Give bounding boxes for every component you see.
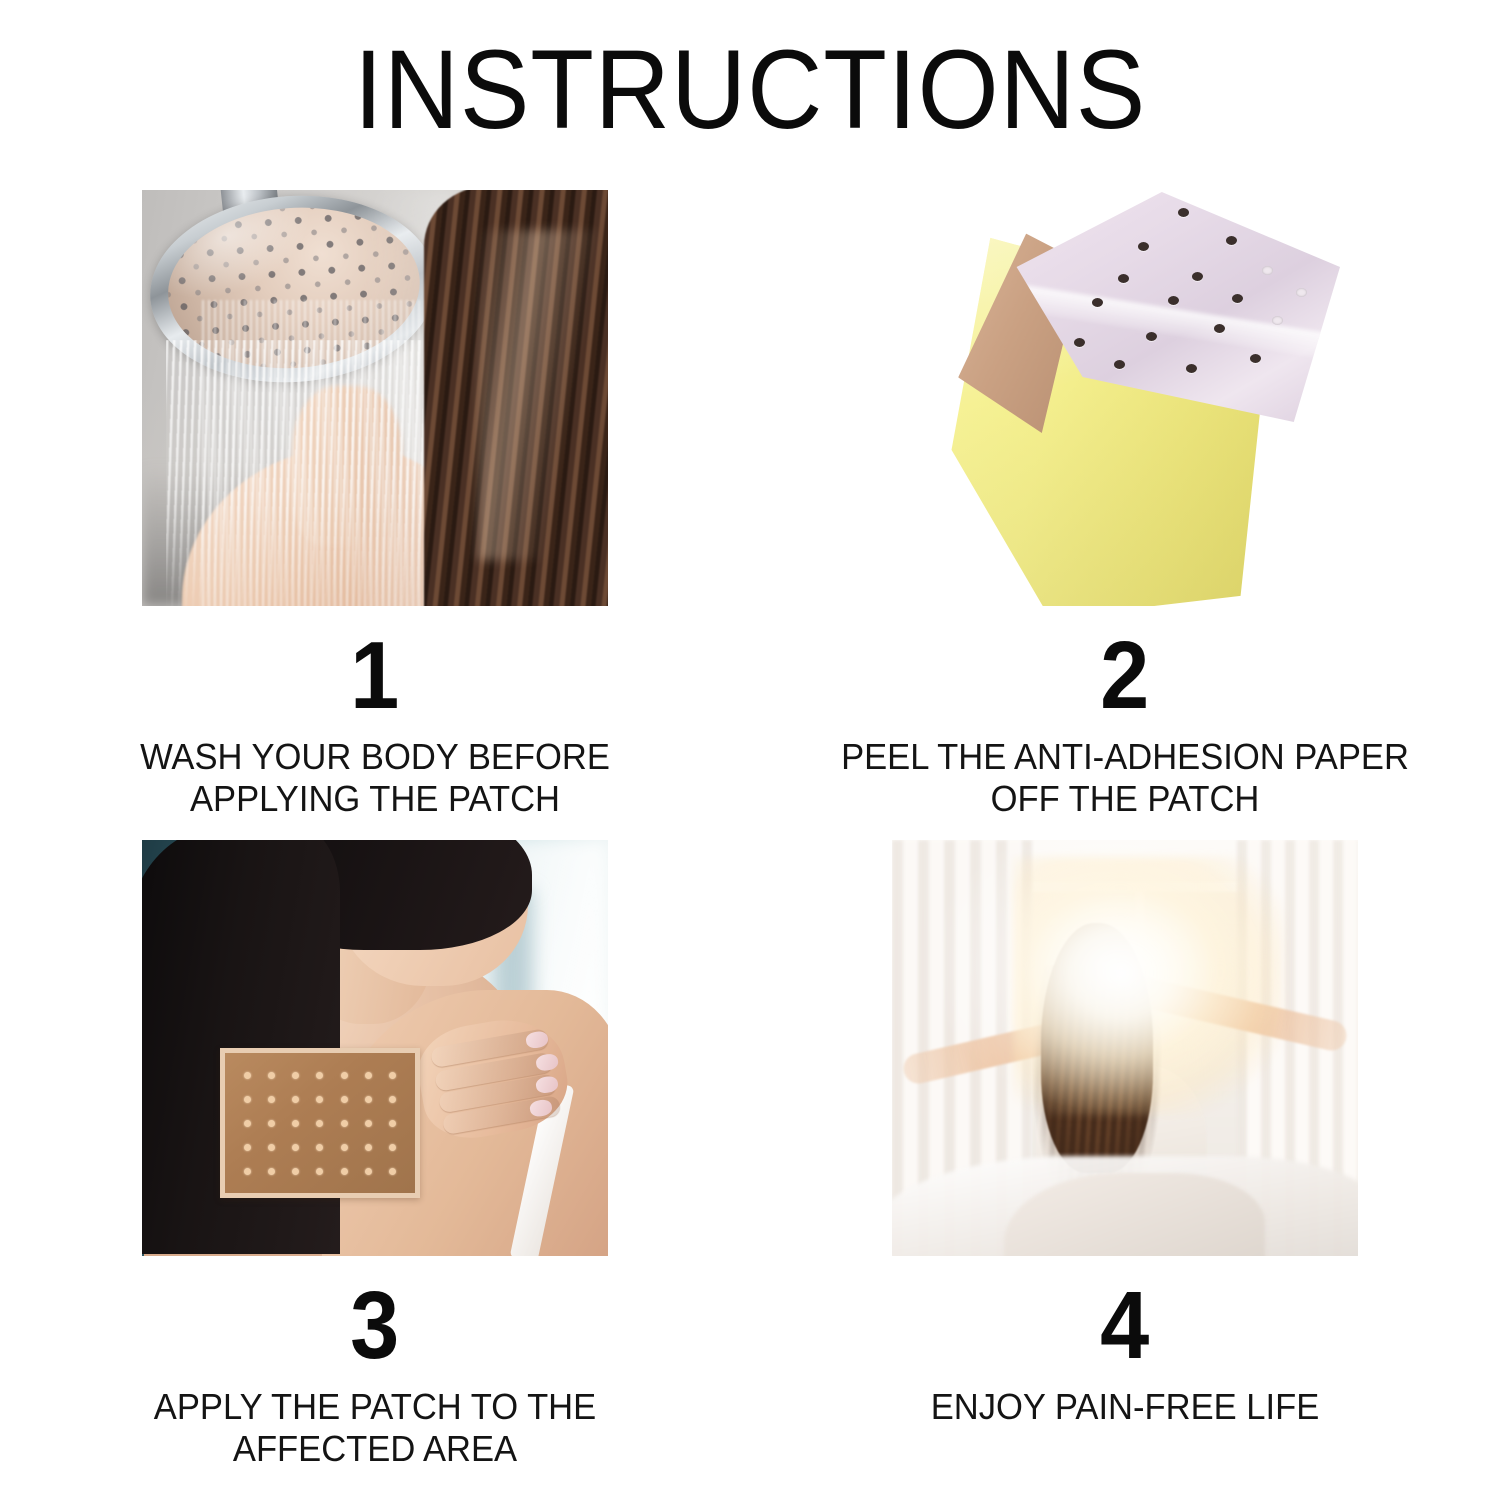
step-1: 1 WASH YOUR BODY BEFORE APPLYING THE PAT… (0, 190, 750, 840)
step-3: 3 APPLY THE PATCH TO THE AFFECTED AREA (0, 840, 750, 1490)
step-1-number: 1 (350, 628, 399, 724)
instructions-infographic: INSTRUCTIONS (0, 0, 1500, 1500)
step-2: 2 PEEL THE ANTI-ADHESION PAPER OFF THE P… (750, 190, 1500, 840)
shower-photo-canvas (142, 190, 608, 606)
waking-up-photo (892, 840, 1358, 1256)
step-3-number: 3 (350, 1278, 399, 1374)
step-4-caption: ENJOY PAIN-FREE LIFE (818, 1386, 1432, 1428)
step-3-caption: APPLY THE PATCH TO THE AFFECTED AREA (82, 1386, 668, 1470)
applied-patch (220, 1048, 420, 1198)
step-4: 4 ENJOY PAIN-FREE LIFE (750, 840, 1500, 1490)
wet-hair-sheen (478, 230, 598, 560)
step-2-number: 2 (1100, 628, 1149, 724)
patch-peel-photo (892, 190, 1358, 606)
page-title: INSTRUCTIONS (53, 34, 1448, 146)
applied-patch-perforations (235, 1063, 405, 1183)
patch-peel-canvas (892, 190, 1358, 606)
step-4-number: 4 (1100, 1278, 1149, 1374)
waking-up-canvas (892, 840, 1358, 1256)
shower-photo (142, 190, 608, 606)
sunlight-flare (1013, 857, 1283, 1115)
steps-grid: 1 WASH YOUR BODY BEFORE APPLYING THE PAT… (0, 190, 1500, 1490)
step-2-caption: PEEL THE ANTI-ADHESION PAPER OFF THE PAT… (832, 736, 1418, 820)
patch-on-back-canvas (142, 840, 608, 1256)
step-1-caption: WASH YOUR BODY BEFORE APPLYING THE PATCH (82, 736, 668, 820)
patch-on-back-photo (142, 840, 608, 1256)
